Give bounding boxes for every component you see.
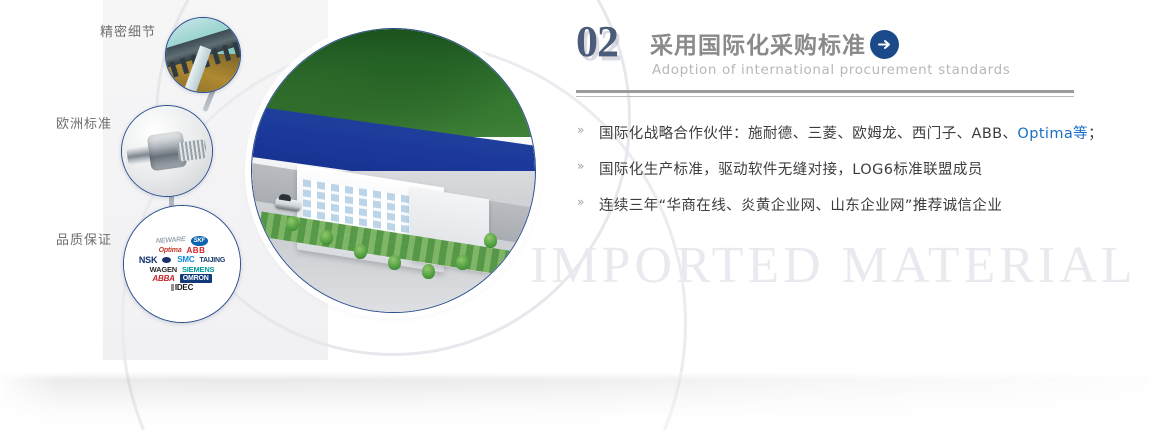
ball-screw-photo: [121, 105, 213, 197]
logo-row: NEWARE SKF: [156, 236, 208, 246]
logo-optima: Optima: [159, 247, 182, 254]
page-title: 采用国际化采购标准: [650, 26, 866, 60]
photo-tree: [422, 264, 435, 279]
divider-thin: [576, 96, 1074, 97]
factory-photo-inner: [252, 29, 535, 312]
logo-siemens: SIEMENS: [182, 266, 214, 274]
logo-row: ABBA OMRON: [152, 274, 211, 283]
logo-abba: ABBA: [152, 275, 174, 283]
logo-nsk: NSK: [139, 256, 157, 265]
logo-abb: ABB: [187, 247, 206, 255]
logo-wagen: WAGEN: [150, 266, 177, 274]
section-banner: 精密细节 欧洲标准 品质保证 NEWARE SKF: [0, 0, 1150, 430]
logo-omron: OMRON: [180, 274, 212, 283]
brand-logo-wall: NEWARE SKF Optima ABB NSK SMC TAIJING WA…: [124, 206, 240, 322]
section-number: 02: [576, 20, 618, 64]
logo-row: Optima ABB: [159, 247, 206, 255]
watermark-text: IMPORTED MATERIAL: [530, 236, 1137, 295]
smc-dot-icon: [162, 257, 171, 263]
list-item: » 国际化生产标准，驱动软件无缝对接，LOG6标准联盟成员: [576, 158, 1096, 179]
list-item: » 连续三年“华商在线、炎黄企业网、山东企业网”推荐诚信企业: [576, 194, 1096, 215]
precision-detail-photo: [165, 17, 241, 93]
factory-building-photo: [251, 28, 536, 313]
panel-label-european: 欧洲标准: [56, 113, 112, 132]
photo-tree: [388, 255, 401, 270]
chevron-bullet-icon: »: [577, 159, 585, 173]
list-item-text: 连续三年“华商在线、炎黄企业网、山东企业网”推荐诚信企业: [599, 198, 1002, 214]
logo-neware: NEWARE: [156, 236, 186, 245]
panel-label-precision: 精密细节: [100, 21, 156, 40]
photo-tree: [320, 230, 333, 245]
list-item-text: 国际化生产标准，驱动软件无缝对接，LOG6标准联盟成员: [599, 162, 983, 178]
content-column: 02 采用国际化采购标准 Adoption of international p…: [576, 22, 1096, 231]
panel-label-quality: 品质保证: [56, 229, 112, 248]
photo-tree: [484, 233, 497, 248]
logo-row: IDEC: [171, 284, 193, 292]
list-item-text-tail: ；: [1088, 126, 1103, 142]
feature-list: » 国际化战略合作伙伴：施耐德、三菱、欧姆龙、西门子、ABB、Optima等； …: [576, 122, 1096, 215]
brand-logos-photo: NEWARE SKF Optima ABB NSK SMC TAIJING WA…: [123, 205, 241, 323]
chevron-bullet-icon: »: [577, 195, 585, 209]
bottom-shadow-band: [0, 372, 1150, 430]
divider-thick: [576, 90, 1074, 93]
logo-taijing: TAIJING: [199, 257, 225, 264]
photo-tree: [456, 255, 469, 270]
logo-smc: SMC: [177, 256, 194, 264]
list-item-text: 国际化战略合作伙伴：施耐德、三菱、欧姆龙、西门子、ABB、: [599, 126, 1017, 142]
logo-row: WAGEN SIEMENS: [150, 266, 215, 274]
chevron-bullet-icon: »: [577, 123, 585, 137]
logo-row: NSK SMC TAIJING: [139, 256, 225, 265]
page-subtitle: Adoption of international procurement st…: [652, 62, 1010, 78]
arrow-right-icon[interactable]: [870, 30, 899, 59]
photo-tree: [286, 216, 299, 231]
photo-tree: [354, 244, 367, 259]
logo-skf: SKF: [191, 236, 208, 246]
photo-thread: [177, 139, 206, 161]
logo-idec: IDEC: [171, 284, 193, 292]
list-item: » 国际化战略合作伙伴：施耐德、三菱、欧姆龙、西门子、ABB、Optima等；: [576, 122, 1096, 143]
section-header: 02 采用国际化采购标准 Adoption of international p…: [576, 22, 1096, 84]
list-item-highlight: Optima等: [1017, 126, 1088, 142]
